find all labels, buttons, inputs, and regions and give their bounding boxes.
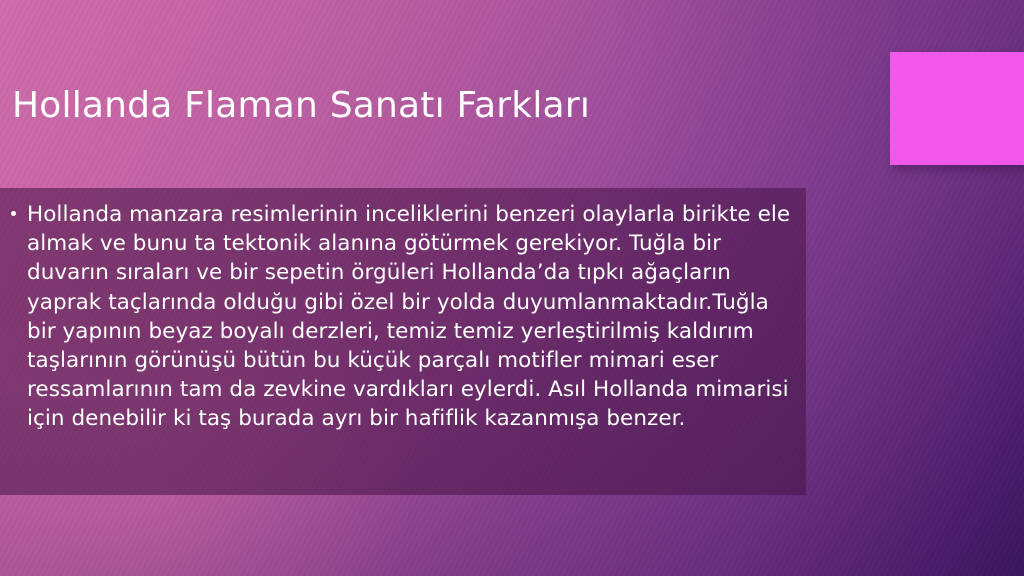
bullet-item-text: Hollanda manzara resimlerinin incelikler…: [27, 202, 790, 431]
magenta-accent-rectangle: [890, 52, 1024, 165]
presentation-slide: Hollanda Flaman Sanatı Farkları Hollanda…: [0, 0, 1024, 576]
bullet-list: Hollanda manzara resimlerinin incelikler…: [8, 200, 796, 434]
slide-title: Hollanda Flaman Sanatı Farkları: [12, 84, 852, 128]
bullet-dot-icon: [11, 211, 16, 216]
slide-body-textbox: Hollanda manzara resimlerinin incelikler…: [0, 188, 806, 495]
bullet-list-item: Hollanda manzara resimlerinin incelikler…: [8, 200, 796, 434]
